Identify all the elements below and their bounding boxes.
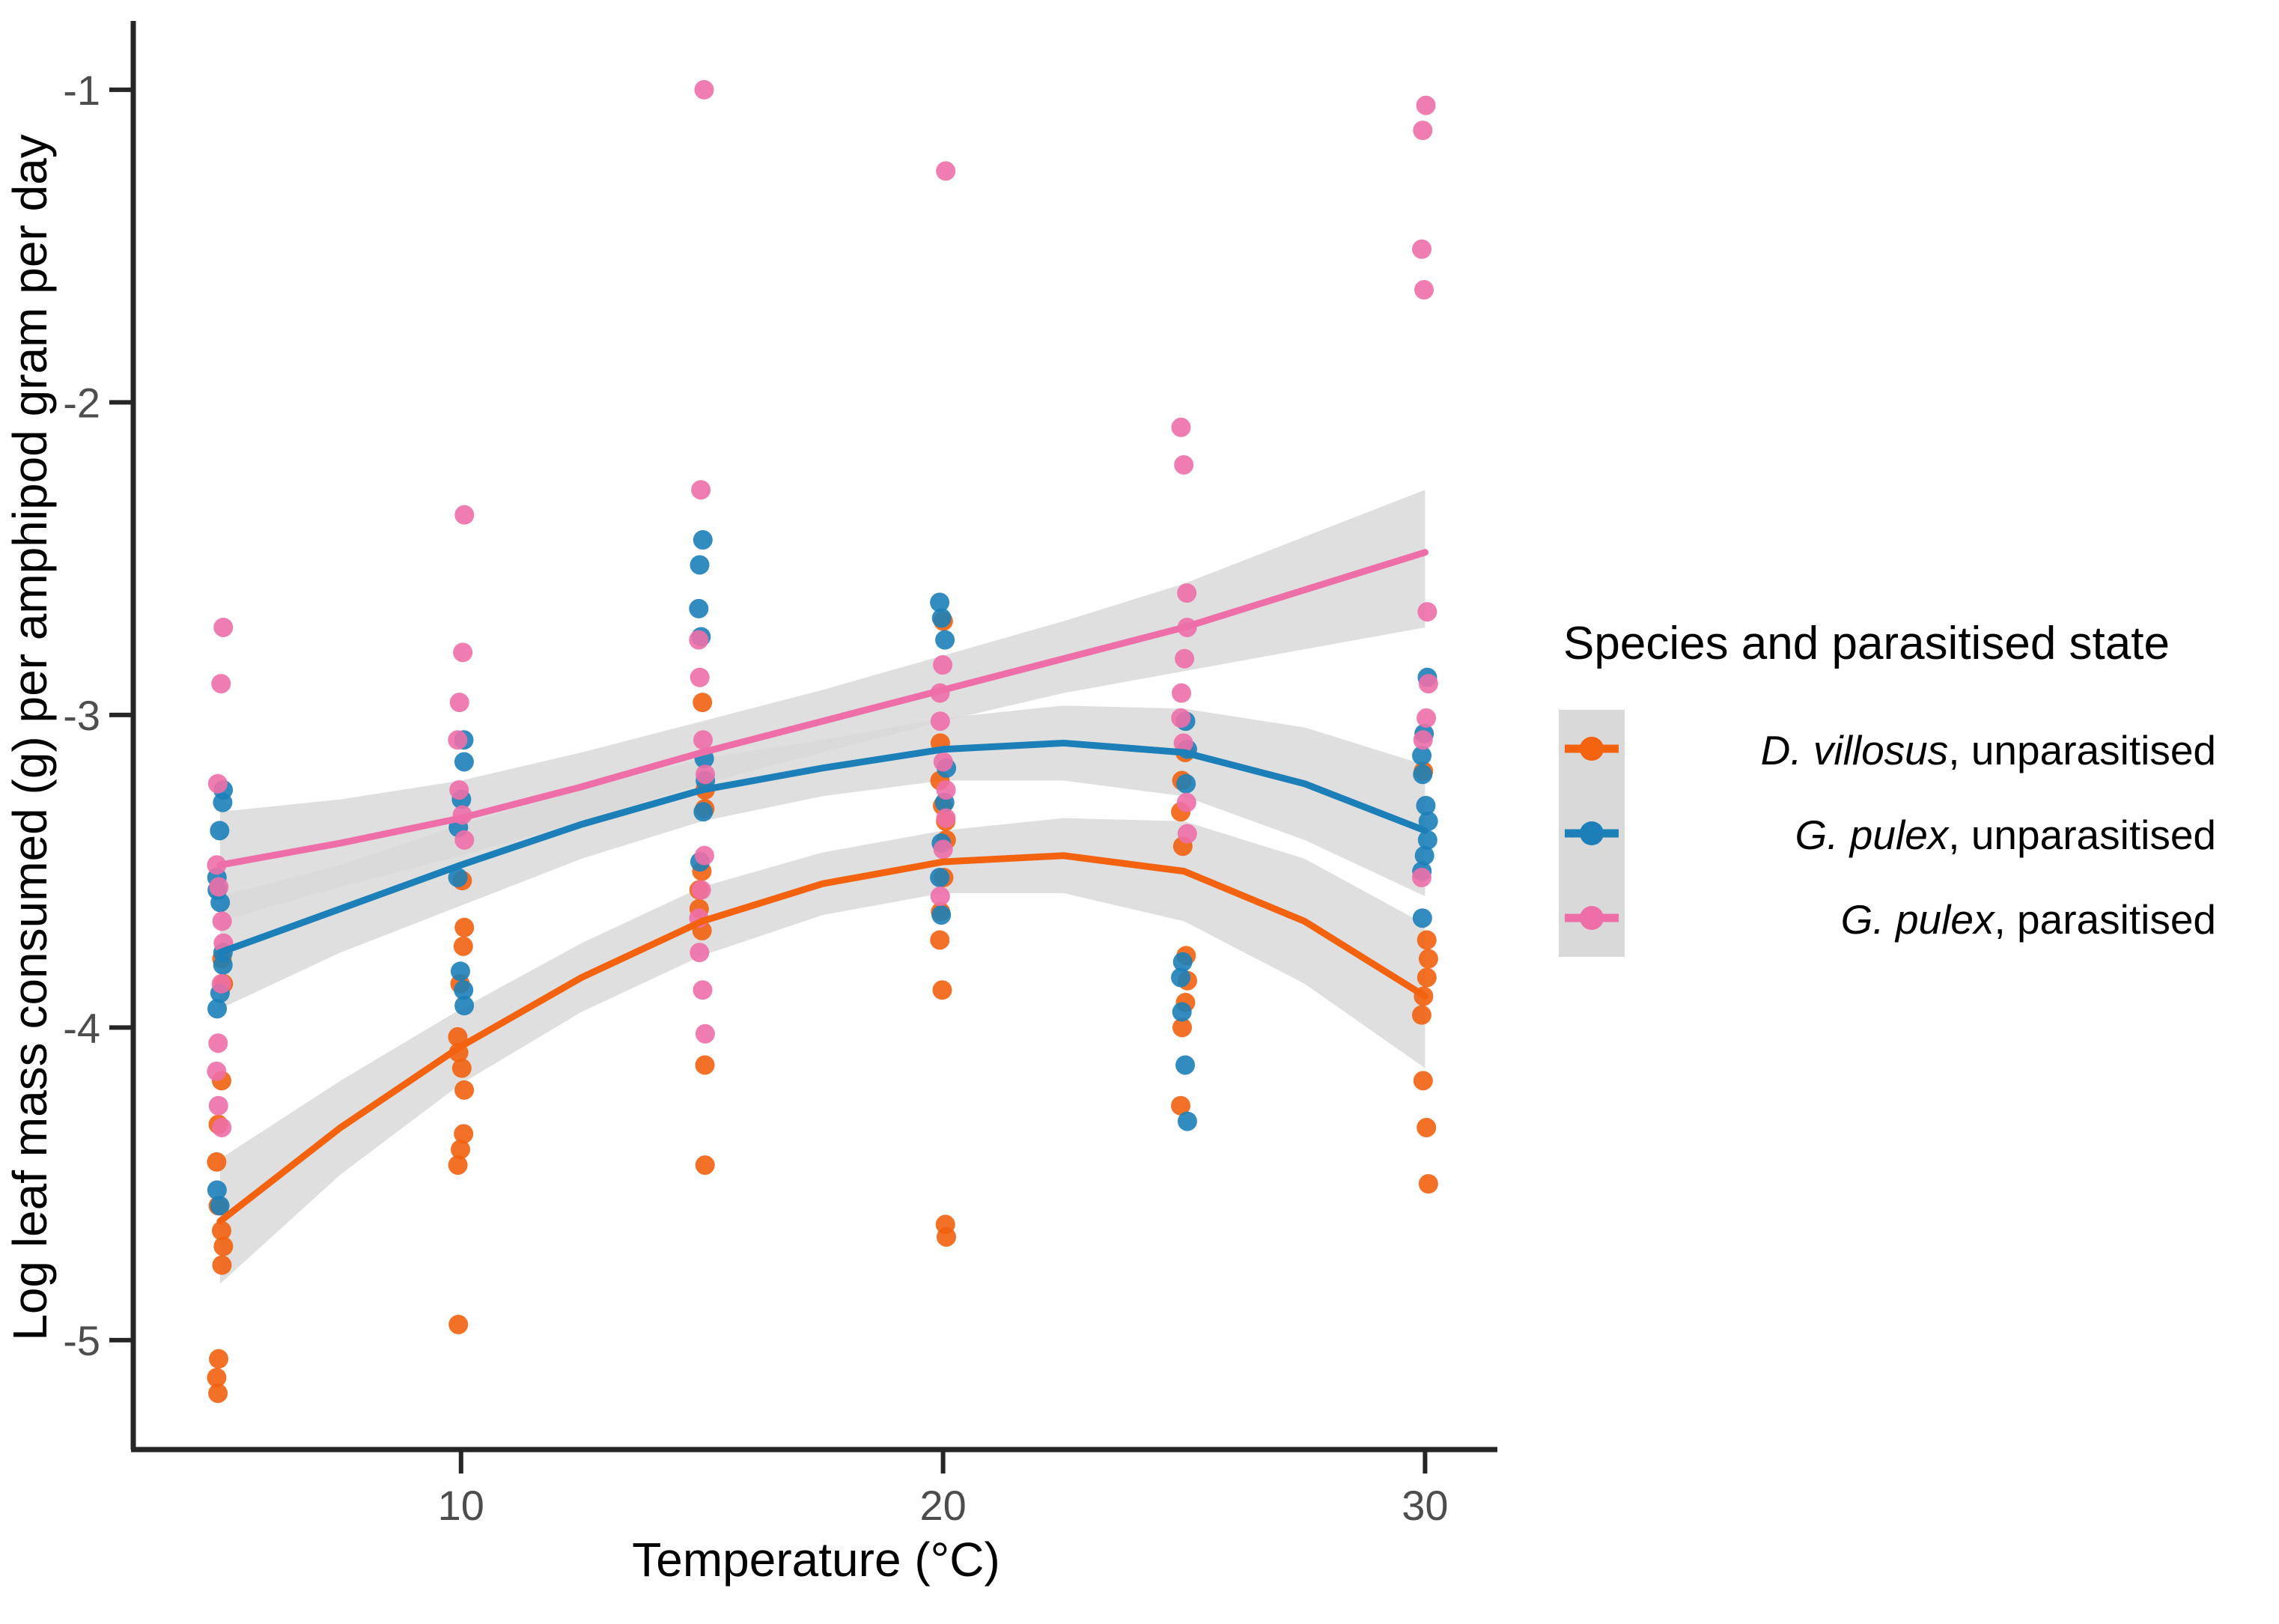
data-point [930, 930, 949, 949]
data-point [937, 1227, 956, 1247]
x-tick-label: 20 [919, 1482, 966, 1529]
data-point [450, 693, 469, 712]
data-point [1413, 764, 1432, 784]
legend-title: Species and parasitised state [1563, 618, 2170, 669]
data-point [1171, 708, 1190, 728]
data-point [454, 752, 474, 771]
data-point [696, 1055, 715, 1074]
data-point [453, 642, 472, 662]
figure-root: Log leaf mass consumed (g) per amphipod … [0, 0, 2279, 1624]
data-point [693, 530, 713, 550]
data-point [1177, 793, 1196, 812]
legend-swatch-point [1580, 821, 1604, 845]
y-tick-label: -3 [63, 692, 100, 739]
data-point [1414, 1071, 1433, 1090]
data-point [209, 877, 228, 896]
data-point [452, 1059, 472, 1078]
legend-species-name: D. villosus [1761, 727, 1949, 773]
data-point [1417, 602, 1437, 621]
data-point [448, 730, 467, 749]
data-point [1412, 868, 1431, 887]
data-point [1175, 1055, 1195, 1074]
legend-swatch-point [1580, 737, 1604, 761]
data-point [933, 655, 952, 675]
data-point [692, 881, 711, 900]
data-point [1414, 730, 1433, 749]
data-point [454, 505, 474, 525]
legend-items: D. villosus, unparasitisedG. pulex, unpa… [1565, 727, 2216, 943]
data-point [936, 161, 955, 180]
data-point [690, 668, 710, 687]
data-point [937, 780, 956, 800]
legend-species-name: G. pulex [1841, 896, 1996, 943]
data-point [1412, 240, 1431, 259]
legend-item-label[interactable]: G. pulex, parasitised [1841, 896, 2216, 943]
data-point [1419, 1174, 1438, 1193]
data-point [1172, 1002, 1192, 1021]
legend-species-name: G. pulex [1795, 812, 1950, 858]
data-point [1417, 968, 1437, 988]
data-point [207, 1152, 226, 1172]
data-point [689, 630, 708, 650]
data-point [454, 830, 474, 850]
data-point [934, 752, 953, 771]
y-tick-label: -1 [63, 67, 100, 114]
data-point [451, 961, 470, 981]
data-point [693, 802, 713, 821]
data-point [1419, 674, 1438, 693]
data-point [209, 1096, 228, 1116]
data-point [208, 1384, 228, 1403]
y-axis-title: Log leaf mass consumed (g) per amphipod … [3, 134, 57, 1341]
data-point [454, 937, 473, 956]
data-point [1176, 774, 1196, 794]
x-tick-label: 30 [1402, 1482, 1448, 1529]
plot-canvas: Log leaf mass consumed (g) per amphipod … [0, 0, 2279, 1624]
data-point [213, 1237, 233, 1256]
data-point [1172, 684, 1191, 703]
y-tick-label: -4 [63, 1004, 100, 1051]
data-point [207, 1062, 226, 1081]
data-point [1417, 1118, 1436, 1137]
data-point [693, 730, 713, 749]
data-point [689, 599, 708, 618]
data-point [211, 674, 231, 693]
data-point [695, 80, 714, 100]
data-point [454, 996, 474, 1015]
data-point [208, 774, 228, 794]
data-point [1171, 968, 1190, 988]
data-point [212, 1118, 231, 1137]
data-point [690, 555, 710, 574]
legend: Species and parasitised state D. villosu… [1559, 618, 2216, 957]
legend-item-label[interactable]: D. villosus, unparasitised [1761, 727, 2216, 773]
x-tick-label: 10 [438, 1482, 484, 1529]
legend-item-label[interactable]: G. pulex, unparasitised [1795, 812, 2216, 858]
data-point [932, 608, 952, 627]
data-point [1419, 949, 1438, 969]
data-point [931, 711, 950, 731]
data-point [690, 943, 709, 962]
data-point [930, 868, 949, 887]
data-point [1174, 455, 1193, 475]
data-point [213, 955, 233, 975]
data-point [932, 980, 952, 1000]
data-point [1413, 908, 1432, 928]
legend-swatch-point [1580, 906, 1604, 930]
data-point [1178, 1112, 1197, 1131]
data-point [696, 764, 715, 784]
data-point [213, 911, 232, 931]
data-point [1417, 930, 1437, 949]
data-point [1175, 649, 1194, 669]
data-point [696, 1155, 715, 1175]
data-point [931, 905, 951, 925]
data-point [1417, 708, 1436, 728]
data-point [931, 886, 950, 906]
data-point [449, 780, 469, 800]
data-point [1414, 280, 1434, 299]
data-point [212, 1256, 231, 1275]
data-point [1413, 121, 1432, 140]
data-point [1177, 583, 1196, 603]
data-point [209, 1349, 228, 1369]
y-tick-label: -2 [63, 379, 100, 426]
data-point [934, 839, 953, 859]
data-point [1172, 418, 1191, 437]
scatter-plot-figure: Log leaf mass consumed (g) per amphipod … [0, 0, 2279, 1624]
data-point [448, 1155, 468, 1175]
data-point [935, 630, 955, 650]
data-point [1412, 1006, 1431, 1025]
data-point [691, 480, 711, 499]
data-point [1178, 824, 1197, 844]
data-point [693, 693, 712, 712]
legend-state-text: , unparasitised [1948, 727, 2216, 773]
data-point [454, 1080, 474, 1100]
data-point [936, 809, 955, 828]
legend-state-text: , parasitised [1994, 896, 2216, 943]
data-point [454, 918, 474, 937]
y-axis-ticks: -1-2-3-4-5 [63, 67, 133, 1364]
data-point [448, 1315, 468, 1334]
y-tick-label: -5 [63, 1317, 100, 1364]
x-axis-ticks: 102030 [438, 1450, 1449, 1529]
data-point [210, 821, 229, 840]
data-point [1417, 96, 1436, 115]
data-point [207, 999, 227, 1018]
data-point [696, 1024, 715, 1044]
data-point [693, 980, 712, 1000]
data-point [695, 846, 714, 866]
data-point [208, 1033, 228, 1053]
data-point [213, 618, 233, 637]
data-point [212, 974, 231, 994]
data-point [213, 793, 232, 812]
x-axis-title: Temperature (°C) [632, 1533, 1000, 1587]
legend-state-text: , unparasitised [1948, 812, 2216, 858]
